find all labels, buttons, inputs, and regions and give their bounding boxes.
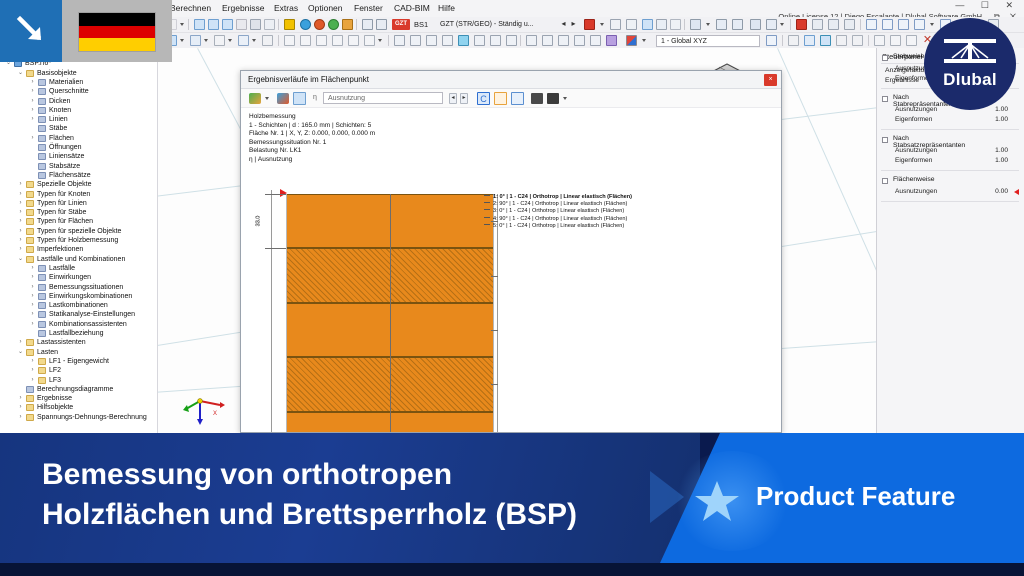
measure-icon[interactable] — [490, 35, 501, 46]
new-surface-dropdown-icon[interactable] — [252, 39, 256, 42]
panel-group-label: Stabweise — [893, 53, 924, 60]
select-special-icon[interactable] — [828, 19, 839, 30]
legend-marker-icon — [484, 209, 490, 210]
tree-expander-icon[interactable] — [29, 125, 36, 132]
banner-tag: Product Feature — [756, 481, 955, 512]
folder-icon — [26, 339, 34, 346]
snap-icon[interactable] — [606, 35, 617, 46]
connect-icon[interactable] — [458, 35, 469, 46]
tree-expander-icon[interactable]: › — [17, 200, 24, 207]
divider — [881, 129, 1019, 130]
banner-title: Bemessung von orthotropen Holzflächen un… — [42, 455, 577, 535]
view-plane-icon[interactable] — [766, 19, 777, 30]
menu-item-fenster[interactable]: Fenster — [354, 3, 383, 13]
situation-icon — [38, 284, 46, 291]
folder-icon — [26, 246, 34, 253]
line-load-icon[interactable] — [316, 35, 327, 46]
project-navigator[interactable]: ›Example 05_3D-Building_EN_1.rf6*⌄BSP.rf… — [0, 48, 158, 433]
tree-expander-icon[interactable] — [29, 330, 36, 337]
toolbar-separator — [388, 35, 389, 46]
layer-legend: 1: 0° | 1 - C24 | Orthotrop | Linear ela… — [493, 194, 632, 230]
numbering-x-icon[interactable] — [866, 19, 877, 30]
application-window: Berechnen Ergebnisse Extras Optionen Fen… — [0, 0, 1024, 433]
active-row-marker-icon — [1014, 189, 1019, 195]
close-icon[interactable]: × — [764, 74, 777, 86]
numbering-dropdown-icon[interactable] — [930, 23, 934, 26]
results-on-icon[interactable] — [300, 19, 311, 30]
design-situation-combo[interactable]: GZT (STR/GEO) - Ständig u... — [436, 19, 554, 31]
legend-label: 2: 90° | 1 - C24 | Orthotrop | Linear el… — [493, 201, 627, 207]
toolbar-separator — [868, 35, 869, 46]
tree-expander-icon[interactable]: › — [17, 209, 24, 216]
imperfection-icon[interactable] — [364, 35, 375, 46]
results-deform-icon[interactable] — [314, 19, 325, 30]
panel-item-value[interactable]: 1.00 — [995, 157, 1008, 164]
legend-marker-icon — [484, 224, 490, 225]
pan-icon[interactable] — [656, 19, 667, 30]
new-solid-icon[interactable] — [262, 35, 273, 46]
new-line-dropdown-icon[interactable] — [204, 39, 208, 42]
diagram-type-dropdown-icon[interactable] — [265, 97, 269, 100]
tree-expander-icon[interactable] — [29, 163, 36, 170]
result-selector-combo[interactable]: Ausnutzung — [323, 92, 443, 104]
legend-label: 1: 0° | 1 - C24 | Orthotrop | Linear ela… — [493, 194, 632, 200]
toolbar-separator — [782, 35, 783, 46]
new-member-icon[interactable] — [214, 35, 225, 46]
result-diagram-dialog[interactable]: Ergebnisverläufe im Flächenpunkt × η Aus… — [240, 70, 782, 433]
layer-brace-tick — [491, 384, 498, 385]
view-iso-icon[interactable] — [690, 19, 701, 30]
tree-expander-icon[interactable]: › — [29, 88, 36, 95]
material-icon — [38, 79, 46, 86]
action-icon — [38, 274, 46, 281]
diagram-icon — [26, 386, 34, 393]
camera-icon[interactable] — [531, 93, 543, 104]
line-icon — [38, 116, 46, 123]
rotate-icon[interactable] — [610, 19, 621, 30]
new-line-icon[interactable] — [190, 35, 201, 46]
view-dropdown-icon[interactable] — [706, 23, 710, 26]
legend-row: 5: 0° | 1 - C24 | Orthotrop | Linear ela… — [493, 223, 632, 230]
view-single-icon[interactable] — [194, 19, 205, 30]
legend-marker-icon — [484, 195, 490, 196]
panel-group-label: Flächenweise — [893, 176, 935, 183]
analysis-icon — [38, 311, 46, 318]
surface-icon — [38, 135, 46, 142]
layer-view-icon[interactable] — [293, 92, 306, 105]
flag-tile — [62, 0, 172, 62]
tree-expander-icon[interactable]: › — [29, 377, 36, 384]
tree-expander-icon[interactable]: › — [29, 98, 36, 105]
toolbar-separator — [790, 19, 791, 30]
grid-icon[interactable] — [788, 35, 799, 46]
section-icon — [38, 88, 46, 95]
tree-expander-icon[interactable]: › — [29, 274, 36, 281]
toolbar-row-1: GZT BS1 GZT (STR/GEO) - Ständig u... ◂ ▸ — [160, 17, 1024, 33]
panel-item-value[interactable]: 1.00 — [995, 147, 1008, 154]
svg-text:X: X — [213, 411, 217, 417]
tree-expander-icon[interactable]: › — [17, 395, 24, 402]
tree-expander-icon[interactable] — [29, 153, 36, 160]
tree-expander-icon[interactable]: › — [17, 246, 24, 253]
toolbar-separator — [520, 35, 521, 46]
legend-label: 4: 90° | 1 - C24 | Orthotrop | Linear el… — [493, 216, 627, 222]
view-table-icon[interactable] — [236, 19, 247, 30]
view-xy-icon[interactable] — [716, 19, 727, 30]
toolbar-separator — [356, 19, 357, 30]
tree-expander-icon[interactable]: › — [29, 321, 36, 328]
checkbox[interactable] — [882, 55, 888, 61]
tree-expander-icon[interactable]: › — [17, 339, 24, 346]
print-icon[interactable] — [547, 93, 559, 104]
folder-icon — [26, 70, 34, 77]
checkbox[interactable] — [882, 137, 888, 143]
view-split-icon[interactable] — [222, 19, 233, 30]
toolbar-separator — [860, 19, 861, 30]
flag-band-gold — [79, 38, 155, 51]
ortho-icon[interactable] — [804, 35, 815, 46]
tree-item-label: Spannungs-Dehnungs-Berechnung — [37, 413, 147, 423]
tree-expander-icon[interactable]: › — [29, 358, 36, 365]
legend-marker-icon — [484, 217, 490, 218]
new-node-dropdown-icon[interactable] — [180, 39, 184, 42]
star-icon — [694, 479, 740, 523]
align-top-icon[interactable] — [526, 35, 537, 46]
tree-expander-icon[interactable]: › — [17, 228, 24, 235]
extrude-icon[interactable] — [474, 35, 485, 46]
node-icon — [38, 107, 46, 114]
align-middle-icon[interactable] — [542, 35, 553, 46]
zoom-window-icon[interactable] — [626, 19, 637, 30]
color-scale-icon[interactable] — [626, 35, 637, 46]
snap-settings-icon[interactable] — [766, 35, 777, 46]
tree-expander-icon[interactable]: ⌄ — [17, 349, 24, 356]
dlubal-wordmark: Dlubal — [924, 70, 1016, 90]
surfaceset-icon — [38, 172, 46, 179]
comment-icon[interactable] — [890, 35, 901, 46]
tree-expander-icon[interactable]: › — [29, 284, 36, 291]
folder-icon — [26, 228, 34, 235]
tree-expander-icon[interactable]: › — [29, 293, 36, 300]
tree-expander-icon[interactable]: › — [17, 237, 24, 244]
diagram-type-icon[interactable] — [249, 93, 261, 104]
panel-item-label: Ausnutzungen — [895, 188, 937, 195]
dialog-toolbar: η Ausnutzung ◂ ▸ C — [241, 89, 781, 108]
warning-icon[interactable] — [906, 35, 917, 46]
thickness-icon — [38, 98, 46, 105]
dlubal-truss-icon — [944, 38, 996, 68]
link-icon[interactable] — [874, 35, 885, 46]
toolbar-separator — [188, 19, 189, 30]
tree-expander-icon[interactable]: › — [17, 191, 24, 198]
support-icon[interactable] — [284, 35, 295, 46]
tree-expander-icon[interactable]: › — [17, 218, 24, 225]
select-similar-icon[interactable] — [844, 19, 855, 30]
relation-icon — [38, 330, 46, 337]
panel-item-value[interactable]: 0.00 — [995, 188, 1008, 195]
tree-expander-icon[interactable]: ⌄ — [17, 256, 24, 263]
banner-baseline — [0, 563, 1024, 576]
align-bottom-icon[interactable] — [558, 35, 569, 46]
load-case-prev-icon[interactable] — [362, 19, 373, 30]
tree-expander-icon[interactable]: › — [29, 79, 36, 86]
background-grid-line — [777, 48, 876, 433]
legend-row: 4: 90° | 1 - C24 | Orthotrop | Linear el… — [493, 216, 632, 223]
menu-item-optionen[interactable]: Optionen — [308, 3, 343, 13]
menu-item-berechnen[interactable]: Berechnen — [170, 3, 211, 13]
folder-icon — [38, 377, 46, 384]
distribute-icon[interactable] — [574, 35, 585, 46]
toolbar-separator — [278, 35, 279, 46]
folder-icon — [26, 191, 34, 198]
move-icon[interactable] — [394, 35, 405, 46]
menu-item-hilfe[interactable]: Hilfe — [438, 3, 455, 13]
load-case-next-icon[interactable] — [376, 19, 387, 30]
tree-expander-icon[interactable]: › — [29, 116, 36, 123]
actioncombo-icon — [38, 293, 46, 300]
flag-band-black — [79, 13, 155, 26]
feature-banner: Bemessung von orthotropen Holzflächen un… — [0, 433, 1024, 576]
osnap-icon[interactable] — [820, 35, 831, 46]
folder-icon — [26, 200, 34, 207]
arrow-tile — [0, 0, 62, 62]
delete-dropdown-icon[interactable] — [600, 23, 604, 26]
coordinate-axes-icon: X — [180, 391, 226, 425]
angle-icon[interactable] — [590, 35, 601, 46]
divider — [881, 170, 1019, 171]
panel-item-label: Eigenformen — [895, 157, 932, 164]
color-scale-dropdown-icon[interactable] — [642, 39, 646, 42]
tree-expander-icon[interactable]: › — [29, 135, 36, 142]
panel-item-label: Ausnutzungen — [895, 106, 937, 113]
folder-icon — [38, 367, 46, 374]
printout-icon[interactable] — [250, 19, 261, 30]
loadcase-icon — [38, 265, 46, 272]
legend-label: 5: 0° | 1 - C24 | Orthotrop | Linear ela… — [493, 223, 624, 229]
tree-expander-icon[interactable]: › — [29, 302, 36, 309]
legend-row: 1: 0° | 1 - C24 | Orthotrop | Linear ela… — [493, 194, 632, 201]
legend-row: 3: 0° | 1 - C24 | Orthotrop | Linear ela… — [493, 208, 632, 215]
menu-item-cad-bim[interactable]: CAD-BIM — [394, 3, 430, 13]
new-member-dropdown-icon[interactable] — [228, 39, 232, 42]
window-controls[interactable]: — ☐ ✕ — [955, 0, 1020, 11]
tree-expander-icon[interactable] — [29, 144, 36, 151]
results-surface-icon[interactable] — [328, 19, 339, 30]
select-off-icon[interactable] — [796, 19, 807, 30]
coordinate-system-combo[interactable]: 1 - Global XYZ — [656, 35, 760, 47]
track-icon[interactable] — [852, 35, 863, 46]
divider — [881, 201, 1019, 202]
prev-point-icon[interactable]: ◂ — [449, 93, 457, 104]
folder-icon — [26, 181, 34, 188]
surface-load-icon[interactable] — [332, 35, 343, 46]
legend-marker-icon — [484, 202, 490, 203]
table-view-icon[interactable] — [494, 92, 507, 105]
tree-expander-icon[interactable]: › — [17, 181, 24, 188]
layer-brace-tick — [491, 330, 498, 331]
step-back-icon[interactable]: ◂ — [560, 19, 567, 30]
wizard-icon — [38, 321, 46, 328]
cross-section-chart[interactable] — [286, 194, 494, 432]
tree-expander-icon[interactable] — [17, 386, 24, 393]
design-situation-badge: GZT — [392, 19, 410, 30]
view-xz-icon[interactable] — [750, 19, 761, 30]
print-dropdown-icon[interactable] — [563, 97, 567, 100]
folder-icon — [26, 395, 34, 402]
select-rect-icon[interactable] — [812, 19, 823, 30]
load-dropdown-icon[interactable] — [378, 39, 382, 42]
folder-icon — [26, 209, 34, 216]
numbering-z-icon[interactable] — [898, 19, 909, 30]
free-load-icon[interactable] — [348, 35, 359, 46]
member-icon — [38, 125, 46, 132]
banner-title-line-2: Holzflächen und Brettsperrholz (BSP) — [42, 495, 577, 535]
tree-expander-icon[interactable]: › — [29, 367, 36, 374]
panel-item-value[interactable]: 1.00 — [995, 106, 1008, 113]
checkbox[interactable] — [882, 178, 888, 184]
folder-icon — [26, 237, 34, 244]
arrow-down-right-icon — [16, 15, 46, 45]
undo-dropdown-icon[interactable] — [180, 23, 184, 26]
calculate-icon[interactable] — [284, 19, 295, 30]
view-yz-icon[interactable] — [732, 19, 743, 30]
value-labels-icon[interactable] — [511, 92, 524, 105]
mirror-icon[interactable] — [426, 35, 437, 46]
nodal-load-icon[interactable] — [300, 35, 311, 46]
view-plane-dropdown-icon[interactable] — [780, 23, 784, 26]
toolbar-separator — [278, 19, 279, 30]
dimension-axis — [271, 190, 272, 432]
loadcombo-icon — [38, 302, 46, 309]
folder-icon — [26, 414, 34, 421]
step-forward-icon[interactable]: ▸ — [570, 19, 577, 30]
legend-row: 2: 90° | 1 - C24 | Orthotrop | Linear el… — [493, 201, 632, 208]
rotate-object-icon[interactable] — [410, 35, 421, 46]
dialog-title: Ergebnisverläufe im Flächenpunkt — [248, 75, 369, 84]
dialog-title-bar[interactable]: Ergebnisverläufe im Flächenpunkt × — [241, 71, 781, 89]
dialog-body: Holzbemessung 1 - Schichten | d : 165.0 … — [241, 108, 781, 432]
german-flag-icon — [78, 12, 156, 52]
report-icon[interactable] — [264, 19, 275, 30]
toolbar-row-2: 1 - Global XYZ ✕ — [160, 33, 1024, 49]
banner-title-line-1: Bemessung von orthotropen — [42, 455, 577, 495]
tree-expander-icon[interactable]: › — [17, 414, 24, 421]
delete-results-icon[interactable] — [584, 19, 595, 30]
load-case-label: BS1 — [414, 20, 428, 29]
zoom-all-icon[interactable] — [642, 19, 653, 30]
render-icon[interactable] — [670, 19, 681, 30]
menu-item-extras[interactable]: Extras — [274, 3, 298, 13]
folder-icon — [38, 358, 46, 365]
polar-icon[interactable] — [836, 35, 847, 46]
results-grid-icon[interactable] — [342, 19, 353, 30]
memberset-icon — [38, 163, 46, 170]
dimension-label: 33.0 — [255, 216, 261, 227]
next-point-icon[interactable]: ▸ — [460, 93, 468, 104]
menu-item-ergebnisse[interactable]: Ergebnisse — [222, 3, 265, 13]
trim-icon[interactable] — [506, 35, 517, 46]
result-info-text: Holzbemessung 1 - Schichten | d : 165.0 … — [249, 113, 375, 165]
flag-band-red — [79, 26, 155, 39]
array-icon[interactable] — [442, 35, 453, 46]
tree-expander-icon[interactable]: › — [29, 107, 36, 114]
folder-icon — [26, 349, 34, 356]
new-surface-icon[interactable] — [238, 35, 249, 46]
folder-icon — [26, 404, 34, 411]
toolbar-separator — [684, 19, 685, 30]
dlubal-logo-badge: Dlubal — [924, 18, 1016, 110]
opening-icon — [38, 144, 46, 151]
layer-brace-tick — [491, 276, 498, 277]
view-window-icon[interactable] — [208, 19, 219, 30]
tree-expander-icon[interactable]: › — [29, 311, 36, 318]
result-symbol-label: η — [313, 94, 317, 101]
color-mode-icon[interactable] — [277, 93, 289, 104]
lineset-icon — [38, 153, 46, 160]
legend-label: 3: 0° | 1 - C24 | Orthotrop | Linear ela… — [493, 208, 624, 214]
section-outline — [286, 194, 494, 432]
checkbox[interactable] — [882, 96, 888, 102]
panel-item-label: Eigenformen — [895, 116, 932, 123]
tree-expander-icon[interactable] — [29, 172, 36, 179]
panel-item-label: Ausnutzungen — [895, 147, 937, 154]
folder-icon — [26, 218, 34, 225]
section-view-icon[interactable]: C — [477, 92, 490, 105]
tree-expander-icon[interactable]: › — [29, 265, 36, 272]
tree-expander-icon[interactable]: › — [17, 404, 24, 411]
numbering-y-icon[interactable] — [882, 19, 893, 30]
tree-expander-icon[interactable]: ⌄ — [17, 70, 24, 77]
panel-item-value[interactable]: 1.00 — [995, 116, 1008, 123]
numbering-all-icon[interactable] — [914, 19, 925, 30]
folder-icon — [26, 256, 34, 263]
